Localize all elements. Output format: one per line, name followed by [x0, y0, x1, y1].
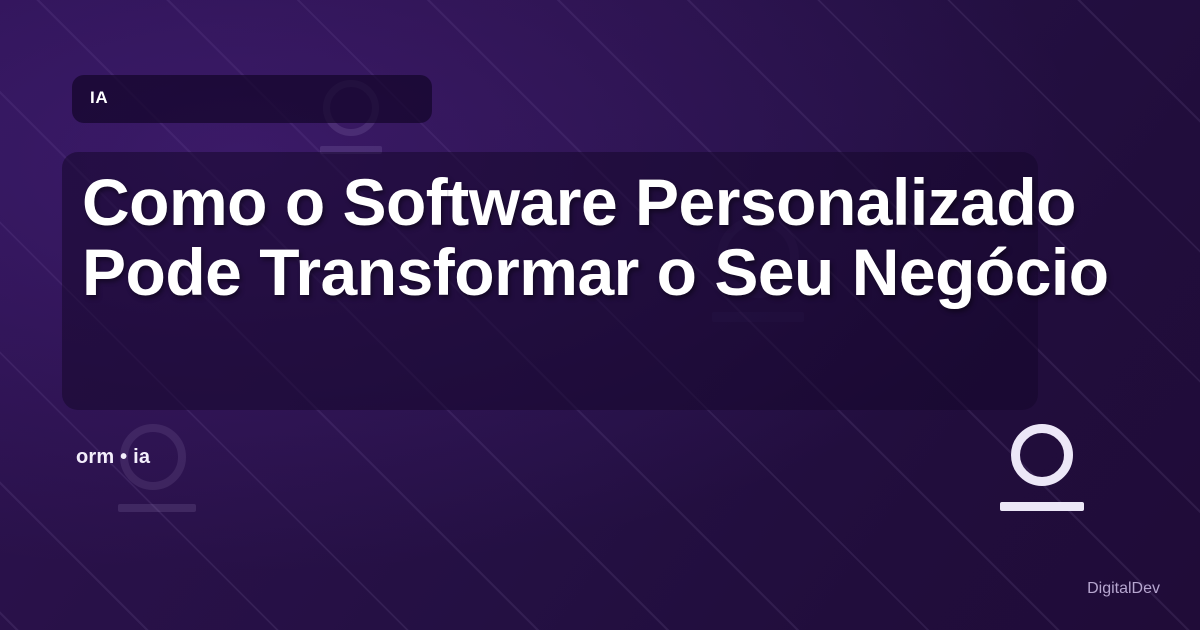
- page-title: Como o Software Personalizado Pode Trans…: [82, 168, 1142, 308]
- site-name: DigitalDev: [0, 580, 1160, 598]
- brand-label: orm • ia: [76, 446, 150, 469]
- social-card: IA Como o Software Personalizado Pode Tr…: [0, 0, 1200, 630]
- ring-icon: [1011, 424, 1073, 486]
- bar-icon: [118, 504, 196, 512]
- category-badge-label: IA: [90, 88, 108, 108]
- brand-logo: [1000, 424, 1084, 511]
- category-badge-panel: [72, 75, 432, 123]
- bar-icon: [1000, 502, 1084, 511]
